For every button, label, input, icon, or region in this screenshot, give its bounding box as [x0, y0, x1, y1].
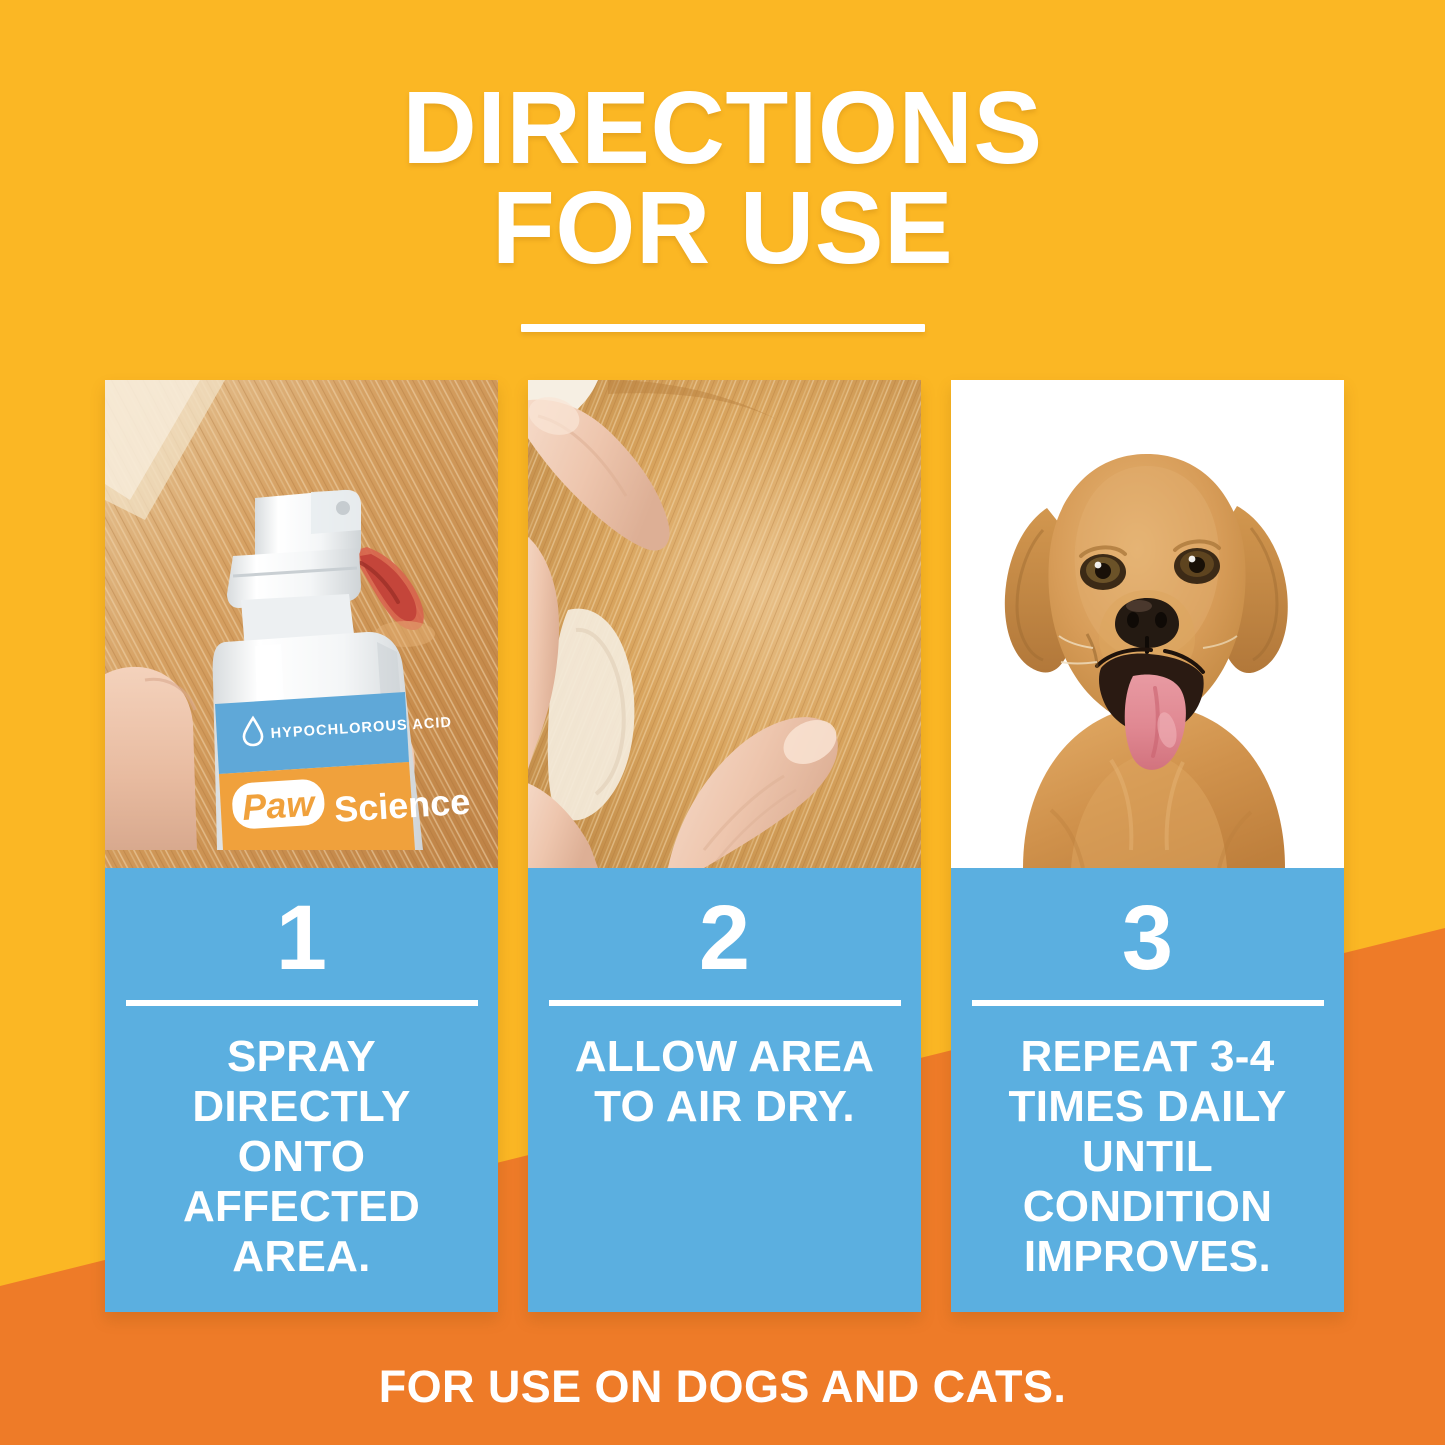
step-1-photo-spray-bottle-on-dog: HYPOCHLOROUS ACID Paw Science	[105, 380, 498, 868]
step-card-2: 2 ALLOW AREA TO AIR DRY.	[528, 380, 921, 1312]
header: DIRECTIONS FOR USE	[0, 78, 1445, 332]
step-2-number: 2	[699, 892, 750, 986]
step-1-number: 1	[276, 892, 327, 986]
step-1-divider	[126, 1000, 478, 1006]
step-3-body: 3 REPEAT 3-4 TIMES DAILY UNTIL CONDITION…	[951, 868, 1344, 1312]
page-title-line-2: FOR USE	[0, 178, 1445, 278]
step-1-body: 1 SPRAY DIRECTLY ONTO AFFECTED AREA.	[105, 868, 498, 1312]
svg-text:Science: Science	[333, 781, 471, 830]
step-3-divider	[972, 1000, 1324, 1006]
infographic-canvas: DIRECTIONS FOR USE	[0, 0, 1445, 1445]
page-title: DIRECTIONS FOR USE	[0, 78, 1445, 278]
step-2-text: ALLOW AREA TO AIR DRY.	[550, 1032, 899, 1132]
step-2-body: 2 ALLOW AREA TO AIR DRY.	[528, 868, 921, 1312]
svg-text:Paw: Paw	[241, 782, 317, 828]
step-2-divider	[549, 1000, 901, 1006]
step-3-photo-happy-puppy	[951, 380, 1344, 868]
page-title-line-1: DIRECTIONS	[0, 78, 1445, 178]
footer: FOR USE ON DOGS AND CATS.	[0, 1361, 1445, 1413]
step-3-number: 3	[1122, 892, 1173, 986]
step-2-photo-hand-on-dog-fur	[528, 380, 921, 868]
step-card-1: HYPOCHLOROUS ACID Paw Science 1 SPRAY DI…	[105, 380, 498, 1312]
title-divider	[521, 324, 925, 332]
footer-text: FOR USE ON DOGS AND CATS.	[0, 1361, 1445, 1413]
step-1-text: SPRAY DIRECTLY ONTO AFFECTED AREA.	[127, 1032, 476, 1283]
step-card-3: 3 REPEAT 3-4 TIMES DAILY UNTIL CONDITION…	[951, 380, 1344, 1312]
steps-row: HYPOCHLOROUS ACID Paw Science 1 SPRAY DI…	[105, 380, 1345, 1312]
step-3-text: REPEAT 3-4 TIMES DAILY UNTIL CONDITION I…	[973, 1032, 1322, 1283]
